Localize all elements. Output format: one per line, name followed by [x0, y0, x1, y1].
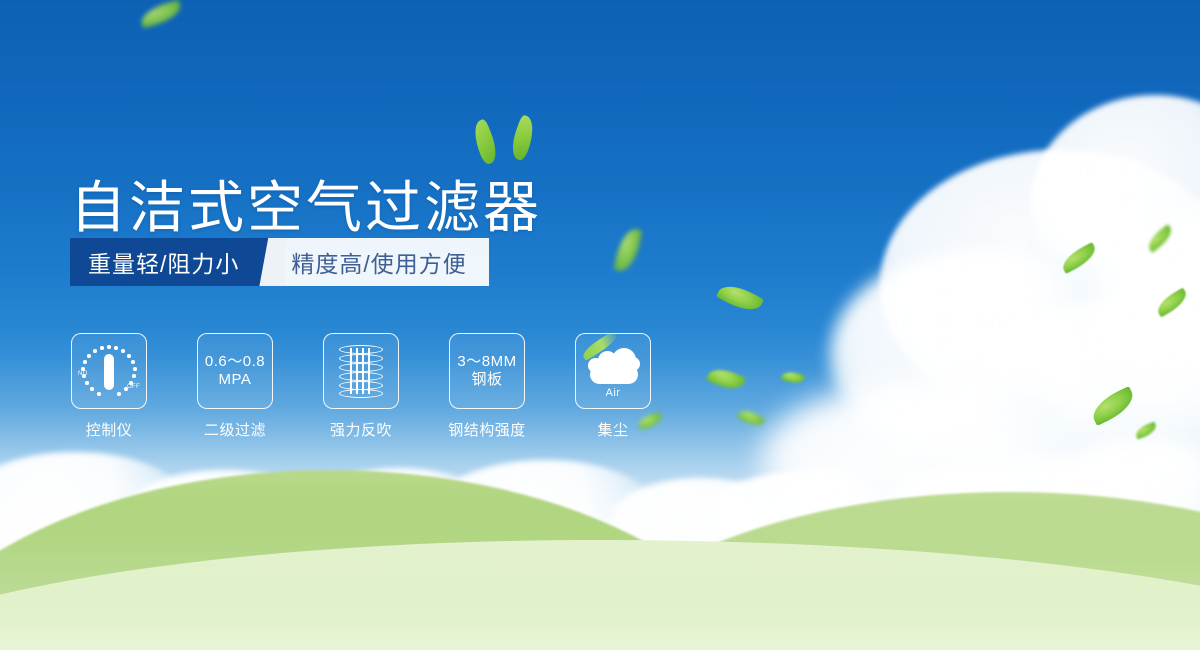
leaf-icon [737, 406, 766, 429]
feature-label: 强力反吹 [330, 419, 392, 440]
pressure-value-line1: 0.6～0.8 [205, 353, 265, 371]
cloud-shape [1040, 440, 1200, 570]
cloud-shape [880, 150, 1200, 420]
cloud-shape [300, 468, 500, 568]
feature-item-controller[interactable]: NO OFF 控制仪 [70, 333, 148, 440]
coil-icon [339, 345, 383, 397]
feature-item-back-blow[interactable]: 强力反吹 [322, 333, 400, 440]
feature-item-two-stage-filter[interactable]: 0.6～0.8 MPA 二级过滤 [196, 333, 274, 440]
dial-label-on: NO [78, 371, 88, 377]
hill-right [560, 492, 1200, 650]
feature-item-steel-strength[interactable]: 3～8MM 钢板 钢结构强度 [448, 333, 526, 440]
feature-icon-box: NO OFF [71, 333, 147, 409]
sprout-leaf-left [468, 118, 501, 166]
cloud-base [590, 365, 638, 384]
subtitle-left-text: 重量轻/阻力小 [70, 238, 259, 286]
feature-item-dust-collection[interactable]: Air 集尘 [574, 333, 652, 440]
dial-icon: NO OFF [78, 343, 140, 399]
cloud-shape [760, 380, 1100, 540]
cloud-shape [1090, 210, 1200, 470]
cloud-shape [700, 470, 930, 570]
leaf-icon [138, 0, 183, 28]
feature-label: 集尘 [597, 419, 628, 440]
subtitle-ribbon: 重量轻/阻力小 精度高/使用方便 [70, 238, 489, 286]
page-title: 自洁式空气过滤器 [70, 180, 542, 236]
pressure-value-line2: MPA [219, 371, 252, 389]
cloud-shape [0, 452, 190, 562]
subtitle-divider [259, 238, 285, 286]
leaf-icon [706, 363, 746, 394]
leaf-icon [1134, 422, 1158, 440]
feature-icon-box: 0.6～0.8 MPA [197, 333, 273, 409]
cloud-shape [880, 455, 1160, 575]
steel-value-line1: 3～8MM [457, 353, 516, 371]
grass-fade-overlay [0, 500, 1200, 650]
cloud-shape [960, 300, 1200, 500]
leaf-icon [1088, 386, 1139, 426]
feature-label: 控制仪 [86, 419, 133, 440]
hill-front [0, 540, 1200, 650]
product-hero-banner: 自洁式空气过滤器 重量轻/阻力小 精度高/使用方便 [0, 0, 1200, 650]
dial-needle [104, 354, 114, 390]
leaf-icon [1154, 288, 1191, 318]
cloud-shape [430, 460, 660, 570]
hill-back [0, 470, 780, 650]
leaf-icon [614, 226, 643, 273]
sprout-leaf-right [507, 114, 539, 162]
cloud-shape [1030, 95, 1200, 315]
air-label: Air [606, 387, 621, 399]
cloud-shape [830, 250, 1130, 460]
leaf-icon [781, 369, 805, 386]
leaf-icon [716, 279, 764, 317]
feature-label: 钢结构强度 [448, 419, 526, 440]
leaf-icon [1144, 224, 1176, 253]
sprout-icon [470, 112, 550, 170]
leaf-icon [1058, 242, 1099, 274]
dial-label-off: OFF [127, 384, 140, 390]
feature-icon-box: Air [575, 333, 651, 409]
feature-icon-box: 3～8MM 钢板 [449, 333, 525, 409]
feature-label: 二级过滤 [204, 419, 266, 440]
steel-value-line2: 钢板 [471, 371, 502, 389]
subtitle-right-text: 精度高/使用方便 [285, 238, 488, 286]
feature-list: NO OFF 控制仪 0.6～0.8 MPA 二级过滤 [70, 333, 652, 440]
cloud-shape [120, 470, 330, 565]
air-cloud-icon [584, 346, 642, 386]
feature-icon-box [323, 333, 399, 409]
cloud-shape [610, 478, 790, 566]
